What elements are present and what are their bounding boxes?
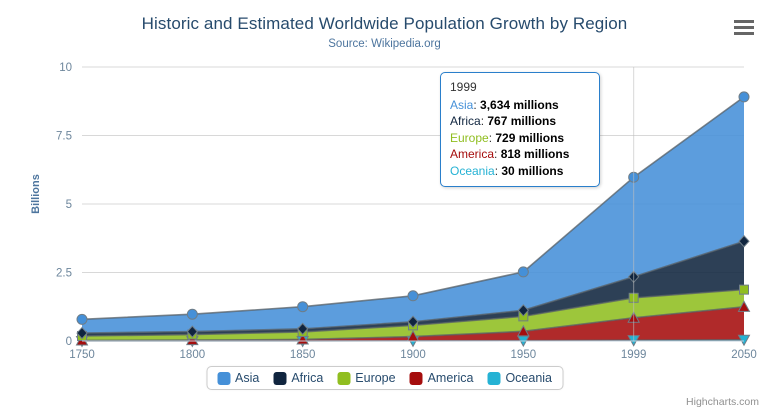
tooltip-row: Africa: 767 millions [450, 113, 590, 130]
chart-legend: AsiaAfricaEuropeAmericaOceania [206, 366, 563, 390]
x-axis-tick-label: 1800 [180, 349, 206, 361]
tooltip-series-value: 3,634 millions [480, 98, 559, 112]
data-point-marker[interactable] [77, 314, 87, 324]
legend-item-europe[interactable]: Europe [337, 371, 395, 385]
legend-item-africa[interactable]: Africa [273, 371, 323, 385]
legend-label: Africa [291, 371, 323, 385]
data-point-marker[interactable] [739, 92, 749, 102]
legend-label: Asia [235, 371, 259, 385]
tooltip-series-value: 767 millions [487, 114, 556, 128]
tooltip-row: Asia: 3,634 millions [450, 97, 590, 114]
legend-swatch-icon [337, 372, 350, 385]
data-point-marker[interactable] [187, 309, 197, 319]
data-point-marker[interactable] [298, 302, 308, 312]
x-axis-tick-label: 1750 [69, 349, 95, 361]
tooltip-series-value: 818 millions [501, 147, 570, 161]
tooltip-series-name: Africa [450, 114, 481, 128]
legend-swatch-icon [487, 372, 500, 385]
tooltip: 1999 Asia: 3,634 millionsAfrica: 767 mil… [440, 72, 600, 187]
legend-label: America [428, 371, 474, 385]
y-axis-tick-label: 2.5 [56, 268, 72, 280]
data-point-marker[interactable] [408, 291, 418, 301]
tooltip-series-value: 729 millions [495, 131, 564, 145]
legend-item-asia[interactable]: Asia [217, 371, 259, 385]
legend-label: Oceania [505, 371, 552, 385]
y-axis-tick-label: 0 [66, 336, 72, 348]
legend-swatch-icon [217, 372, 230, 385]
tooltip-row: America: 818 millions [450, 146, 590, 163]
tooltip-series-value: 30 millions [501, 164, 563, 178]
tooltip-row: Oceania: 30 millions [450, 163, 590, 180]
credits-link[interactable]: Highcharts.com [686, 396, 759, 408]
legend-label: Europe [355, 371, 395, 385]
y-axis-tick-label: 5 [66, 199, 72, 211]
plot-area: 02.557.5101750180018501900195019992050 [0, 0, 769, 416]
legend-swatch-icon [273, 372, 286, 385]
x-axis-tick-label: 1850 [290, 349, 316, 361]
tooltip-series-name: Europe [450, 131, 489, 145]
x-axis-tick-label: 1900 [400, 349, 426, 361]
tooltip-series-name: Oceania [450, 164, 495, 178]
x-axis-tick-label: 1950 [511, 349, 537, 361]
data-point-marker[interactable] [518, 267, 528, 277]
tooltip-series-name: Asia [450, 98, 473, 112]
tooltip-series-name: America [450, 147, 494, 161]
data-point-marker[interactable] [740, 285, 749, 294]
tooltip-rows: Asia: 3,634 millionsAfrica: 767 millions… [450, 97, 590, 180]
legend-item-oceania[interactable]: Oceania [487, 371, 552, 385]
highcharts-container: Historic and Estimated Worldwide Populat… [0, 0, 769, 416]
y-axis-tick-label: 7.5 [56, 131, 72, 143]
y-axis-tick-label: 10 [59, 62, 72, 74]
legend-swatch-icon [410, 372, 423, 385]
x-axis-tick-label: 2050 [731, 349, 757, 361]
y-axis-title: Billions [30, 154, 42, 234]
tooltip-header: 1999 [450, 79, 590, 97]
x-axis-tick-label: 1999 [621, 349, 647, 361]
tooltip-row: Europe: 729 millions [450, 130, 590, 147]
legend-item-america[interactable]: America [410, 371, 474, 385]
